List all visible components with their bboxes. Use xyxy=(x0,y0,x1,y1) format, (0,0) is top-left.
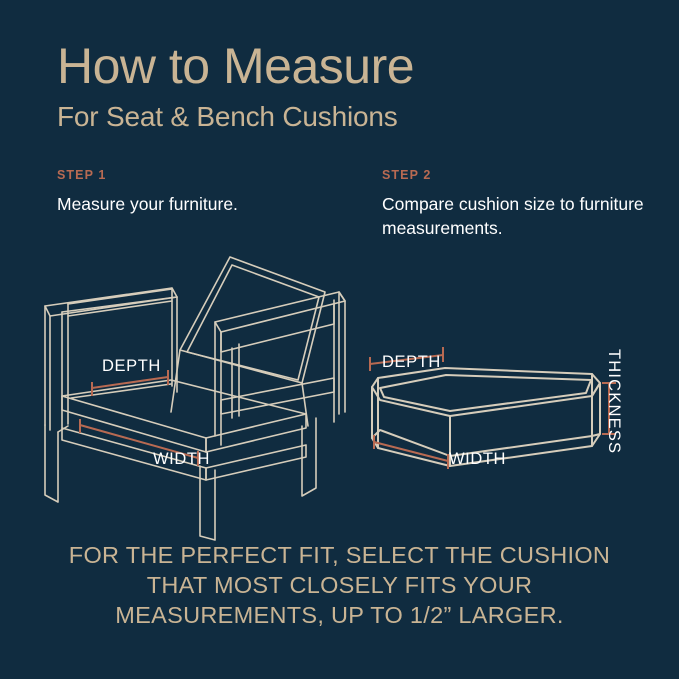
footer-line-2: THAT MOST CLOSELY FITS YOUR xyxy=(45,570,634,600)
footer-line-1: FOR THE PERFECT FIT, SELECT THE CUSHION xyxy=(45,540,634,570)
steps-row: STEP 1 Measure your furniture. STEP 2 Co… xyxy=(57,168,637,248)
chair-seat-front-face-left xyxy=(62,396,206,452)
step-2-kicker: STEP 2 xyxy=(382,168,647,182)
cushion-depth-label: DEPTH xyxy=(382,353,441,372)
page-title: How to Measure xyxy=(57,38,637,94)
chair-backrest xyxy=(180,257,325,383)
cushion-left-front-face xyxy=(372,387,450,466)
infographic-page: How to Measure For Seat & Bench Cushions… xyxy=(0,0,679,679)
step-1: STEP 1 Measure your furniture. xyxy=(57,168,357,216)
cushion-thickness-label: THICKNESS xyxy=(604,349,623,454)
cushion-front-bottom-seam-left xyxy=(372,430,450,466)
cushion-top-seam xyxy=(380,375,591,411)
chair-leg-front-left xyxy=(45,425,58,502)
chair-depth-label: DEPTH xyxy=(102,357,161,376)
step-1-kicker: STEP 1 xyxy=(57,168,357,182)
header: How to Measure For Seat & Bench Cushions xyxy=(57,38,637,134)
armchair-illustration xyxy=(40,240,360,510)
footer-callout: FOR THE PERFECT FIT, SELECT THE CUSHION … xyxy=(0,540,679,630)
chair-left-arm-rail-upper xyxy=(68,289,172,304)
footer-line-3: MEASUREMENTS, UP TO 1/2” LARGER. xyxy=(45,600,634,630)
cushion-width-label: WIDTH xyxy=(449,450,506,469)
cushion-top-face xyxy=(372,368,600,416)
chair-right-arm-lower-rail xyxy=(221,378,334,414)
step-2-text: Compare cushion size to furniture measur… xyxy=(382,192,647,240)
chair-width-label: WIDTH xyxy=(153,450,210,469)
chair-left-arm-rail-edge xyxy=(62,297,177,312)
chair-seat-inner-line xyxy=(71,384,171,398)
step-2: STEP 2 Compare cushion size to furniture… xyxy=(382,168,647,240)
step-1-text: Measure your furniture. xyxy=(57,192,357,216)
armchair-frame-diagram xyxy=(40,240,360,510)
page-subtitle: For Seat & Bench Cushions xyxy=(57,100,637,134)
chair-right-arm-cap xyxy=(339,292,345,301)
chair-back-post-right xyxy=(302,383,308,426)
chair-front-rail-right xyxy=(206,445,306,480)
chair-leg-front-center xyxy=(200,466,215,540)
chair-frame-strokes xyxy=(45,257,345,540)
